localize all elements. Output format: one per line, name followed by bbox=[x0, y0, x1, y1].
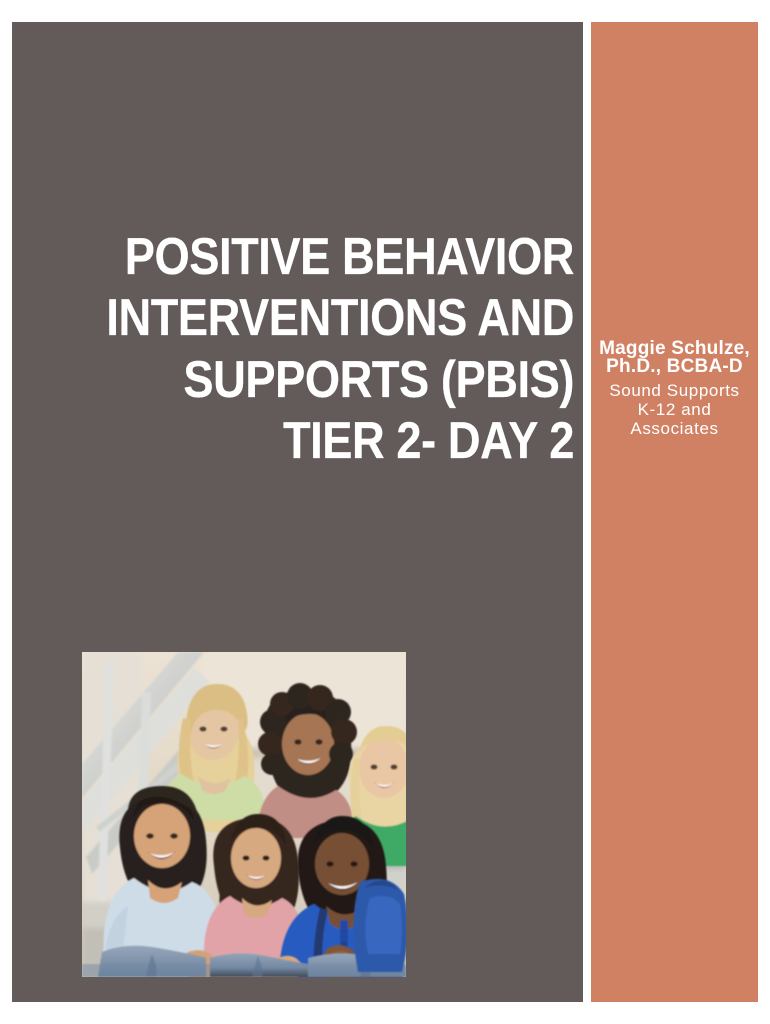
presenter-org-line-1: Sound Supports bbox=[591, 381, 758, 400]
page-title: POSITIVE BEHAVIOR INTERVENTIONS AND SUPP… bbox=[29, 227, 574, 472]
presenter-organization: Sound Supports K-12 and Associates bbox=[591, 381, 758, 438]
presenter-panel: Maggie Schulze, Ph.D., BCBA-D Sound Supp… bbox=[591, 22, 758, 1002]
presenter-name-line-1: Maggie Schulze, bbox=[591, 340, 758, 358]
title-line-3: SUPPORTS (PBIS) bbox=[100, 350, 574, 411]
title-panel: POSITIVE BEHAVIOR INTERVENTIONS AND SUPP… bbox=[12, 22, 583, 1002]
title-line-2: INTERVENTIONS AND bbox=[100, 288, 574, 349]
title-line-1: POSITIVE BEHAVIOR bbox=[100, 227, 574, 288]
presenter-org-line-2: K-12 and bbox=[591, 400, 758, 419]
students-photo-illustration bbox=[82, 652, 406, 977]
presenter-org-line-3: Associates bbox=[591, 419, 758, 438]
presenter-info: Maggie Schulze, Ph.D., BCBA-D Sound Supp… bbox=[591, 340, 758, 438]
presenter-name: Maggie Schulze, Ph.D., BCBA-D bbox=[591, 340, 758, 375]
presenter-name-line-2: Ph.D., BCBA-D bbox=[591, 358, 758, 376]
title-slide: POSITIVE BEHAVIOR INTERVENTIONS AND SUPP… bbox=[0, 0, 770, 1024]
students-group-photo bbox=[82, 652, 406, 977]
title-line-4: TIER 2- DAY 2 bbox=[100, 411, 574, 472]
